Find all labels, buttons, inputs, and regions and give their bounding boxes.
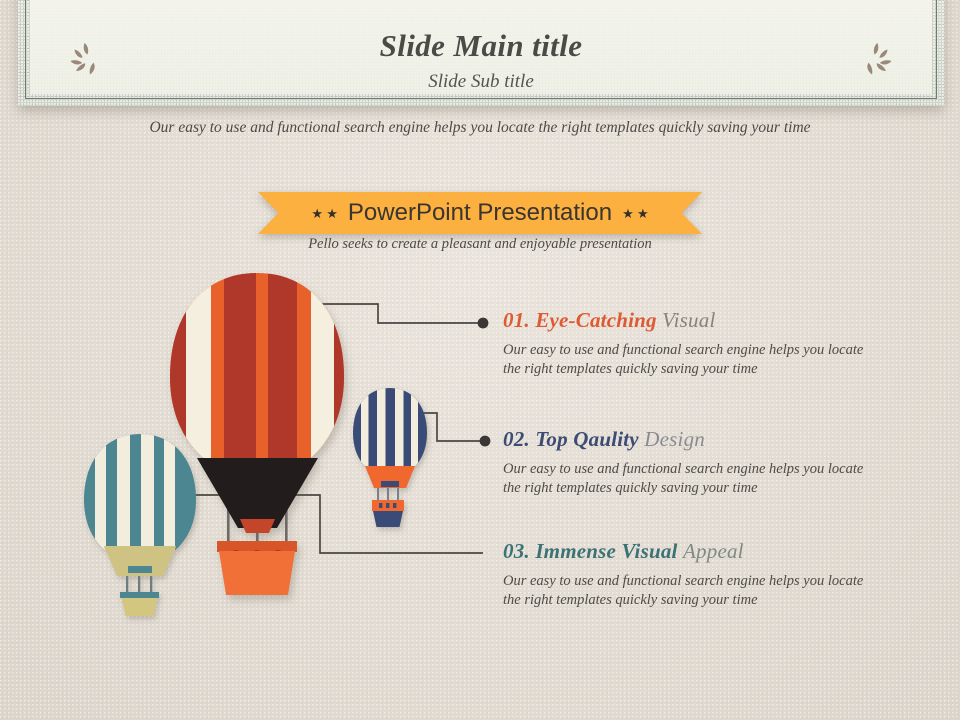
header-panel: Slide Main title Slide Sub title bbox=[30, 0, 932, 94]
feature-item-3-number: 03. bbox=[503, 539, 530, 563]
star-icon-group-right: ★ ★ bbox=[622, 207, 649, 220]
ribbon-title: PowerPoint Presentation bbox=[338, 199, 622, 227]
teal-balloon-basket bbox=[120, 572, 159, 616]
feature-item-3-heading-strong: Immense Visual bbox=[535, 539, 677, 563]
feature-item-2-heading-strong: Top Qaulity bbox=[535, 427, 639, 451]
feature-item-1: 01. Eye-Catching Visual Our easy to use … bbox=[503, 308, 871, 379]
feature-item-1-body: Our easy to use and functional search en… bbox=[503, 341, 871, 379]
slide-canvas: Slide Main title Slide Sub title Our eas… bbox=[0, 0, 960, 720]
page-subtitle: Slide Sub title bbox=[30, 71, 932, 93]
feature-item-2: 02. Top Qaulity Design Our easy to use a… bbox=[503, 427, 871, 498]
page-title: Slide Main title bbox=[30, 28, 932, 64]
section-ribbon: ★ ★ PowerPoint Presentation ★ ★ bbox=[258, 192, 702, 234]
star-icon-group-left: ★ ★ bbox=[311, 207, 338, 220]
feature-item-3: 03. Immense Visual Appeal Our easy to us… bbox=[503, 539, 871, 610]
header-frame: Slide Main title Slide Sub title bbox=[18, 0, 944, 106]
feature-item-3-body: Our easy to use and functional search en… bbox=[503, 572, 871, 610]
feature-item-1-heading-soft: Visual bbox=[662, 308, 715, 332]
navy-balloon-basket bbox=[372, 487, 404, 527]
ribbon-banner: ★ ★ PowerPoint Presentation ★ ★ bbox=[258, 192, 702, 234]
feature-item-2-number: 02. bbox=[503, 427, 530, 451]
feature-item-2-heading: 02. Top Qaulity Design bbox=[503, 427, 871, 452]
large-orange-balloon bbox=[166, 268, 352, 595]
feature-item-3-heading-soft: Appeal bbox=[683, 539, 744, 563]
feature-item-2-heading-soft: Design bbox=[644, 427, 705, 451]
teal-balloon bbox=[80, 428, 202, 616]
connector-line-3 bbox=[156, 495, 483, 553]
feature-item-1-heading-strong: Eye-Catching bbox=[535, 308, 656, 332]
header-tagline: Our easy to use and functional search en… bbox=[0, 119, 960, 137]
feature-item-1-heading: 01. Eye-Catching Visual bbox=[503, 308, 871, 333]
large-balloon-basket bbox=[217, 498, 297, 595]
feature-item-3-heading: 03. Immense Visual Appeal bbox=[503, 539, 871, 564]
feature-item-1-number: 01. bbox=[503, 308, 530, 332]
connector-line-1 bbox=[262, 299, 489, 329]
connector-line-2 bbox=[383, 408, 491, 447]
ribbon-caption: Pello seeks to create a pleasant and enj… bbox=[0, 236, 960, 253]
navy-balloon bbox=[350, 384, 432, 527]
feature-item-2-body: Our easy to use and functional search en… bbox=[503, 460, 871, 498]
